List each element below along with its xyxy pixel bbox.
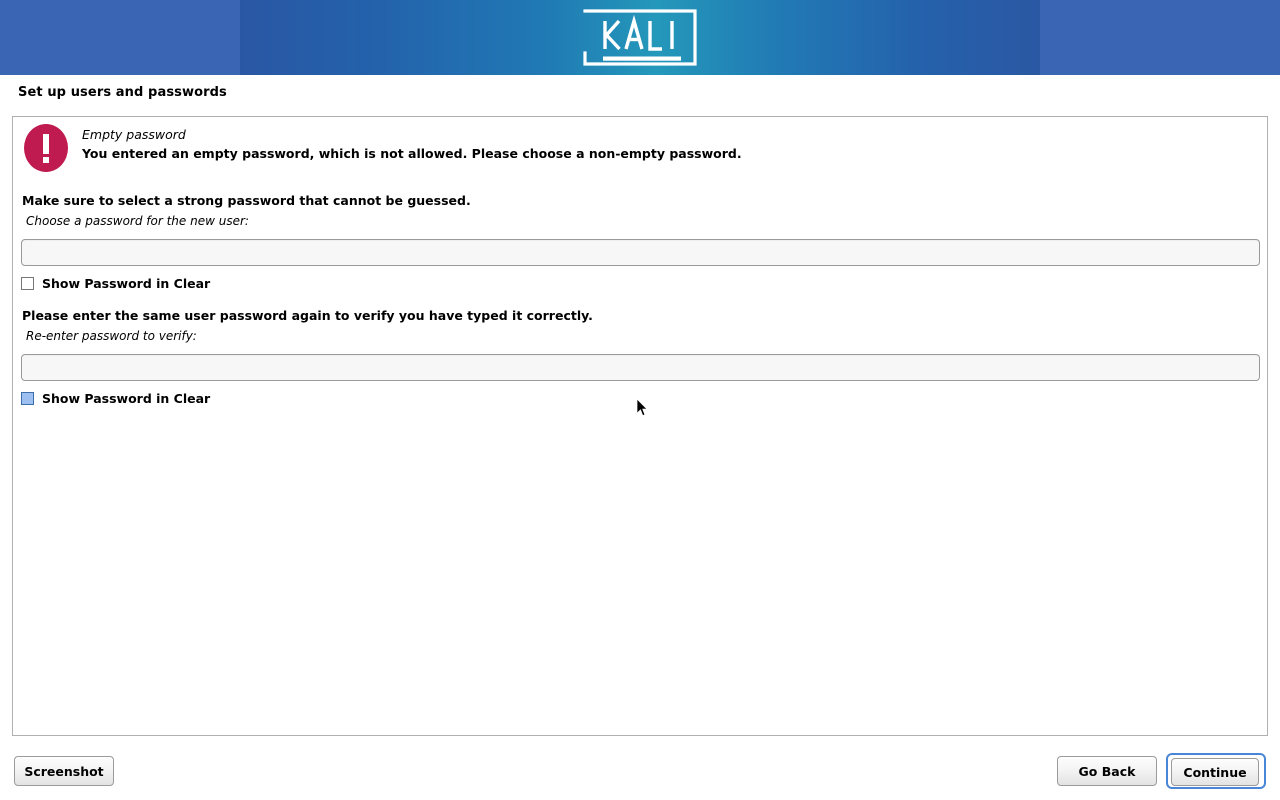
error-title: Empty password — [82, 127, 186, 142]
password-input[interactable] — [21, 239, 1260, 266]
kali-dragon-logo — [583, 9, 697, 66]
password-field-label: Choose a password for the new user: — [26, 214, 249, 228]
verify-password-input[interactable] — [21, 354, 1260, 381]
verify-section-heading: Please enter the same user password agai… — [22, 308, 593, 323]
exclamation-circle-icon — [24, 124, 68, 172]
show-password-in-clear-row-1[interactable]: Show Password in Clear — [21, 276, 210, 291]
screenshot-button[interactable]: Screenshot — [14, 756, 114, 786]
password-section-heading: Make sure to select a strong password th… — [22, 193, 471, 208]
page-title: Set up users and passwords — [18, 85, 227, 100]
error-message: You entered an empty password, which is … — [82, 146, 742, 161]
verify-field-label: Re-enter password to verify: — [26, 329, 197, 343]
continue-button[interactable]: Continue — [1171, 758, 1259, 786]
show-password-in-clear-row-2[interactable]: Show Password in Clear — [21, 391, 210, 406]
installer-content-panel: Empty password You entered an empty pass… — [12, 116, 1268, 736]
show-password-in-clear-label-1: Show Password in Clear — [42, 276, 210, 291]
installer-banner — [0, 0, 1280, 75]
show-password-in-clear-label-2: Show Password in Clear — [42, 391, 210, 406]
continue-button-focus-ring: Continue — [1166, 753, 1266, 789]
go-back-button[interactable]: Go Back — [1057, 756, 1157, 786]
error-message-block: Empty password You entered an empty pass… — [13, 117, 1267, 124]
show-password-in-clear-checkbox-1[interactable] — [21, 277, 34, 290]
show-password-in-clear-checkbox-2[interactable] — [21, 392, 34, 405]
